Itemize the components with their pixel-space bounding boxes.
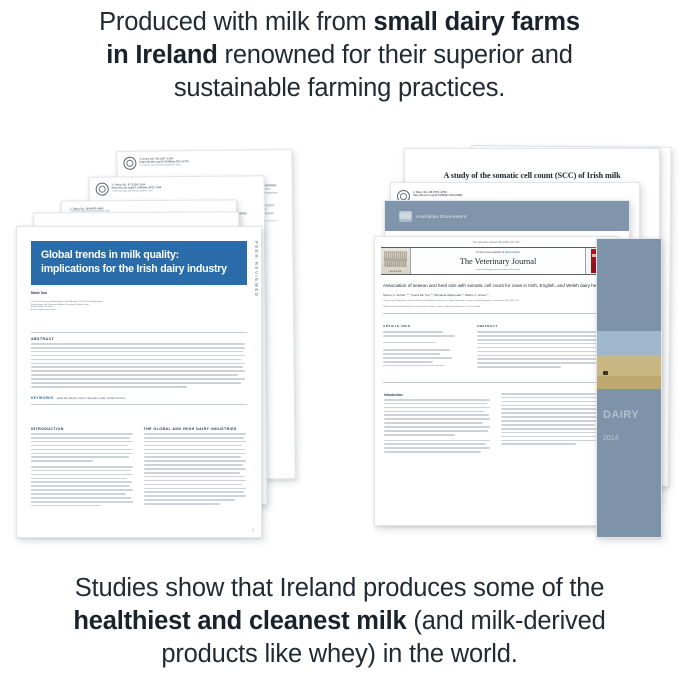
journal-homepage-note: journal homepage: www.elsevier.com/locat… bbox=[413, 269, 583, 271]
left-main-paper[interactable]: PEER REVIEWED Global trends in milk qual… bbox=[16, 226, 262, 538]
journal-seal-icon bbox=[96, 183, 109, 196]
article-info-column: ARTICLE INFO bbox=[383, 324, 469, 370]
keywords-value: global dairy industry, Ireland, milk qua… bbox=[57, 398, 125, 400]
divider bbox=[31, 404, 247, 405]
citation-row: J. Dairy Sci. 97:3136−3144 http://dx.doi… bbox=[90, 176, 264, 196]
aus-gov-label: Australian Government bbox=[416, 214, 466, 219]
headline-bottom-line2-plain: (and milk-derived bbox=[407, 607, 606, 635]
headline-bottom-line3: products like whey) in the world. bbox=[161, 640, 517, 668]
peer-reviewed-label: PEER REVIEWED bbox=[254, 241, 259, 298]
infographic-page: Produced with milk from small dairy farm… bbox=[0, 0, 679, 681]
column-body-right bbox=[501, 393, 609, 455]
paper-title: Global trends in milk quality: implicati… bbox=[31, 241, 247, 285]
photo-report-number: 2014 bbox=[603, 435, 619, 442]
citation-text: J. Dairy Sci. 98:3776−3790 http://dx.doi… bbox=[413, 190, 462, 198]
journal-masthead: ELSEVIER Contents lists available at Sci… bbox=[381, 247, 611, 275]
headline-top-line2-bold: in Ireland bbox=[106, 41, 217, 69]
headline-bottom-line2-bold: healthiest and cleanest milk bbox=[73, 607, 406, 635]
headline-top-line3: sustainable farming practices. bbox=[174, 74, 505, 102]
introduction-heading: Introduction bbox=[384, 393, 492, 397]
right-sheet-photo-report: DAIRY 2014 bbox=[596, 238, 662, 538]
abstract-label: ABSTRACT bbox=[477, 324, 609, 328]
journal-name: The Veterinary Journal bbox=[413, 257, 583, 266]
article-affiliation-2: ᵇ Animal and Grassland Research and Inno… bbox=[375, 303, 617, 309]
headline-top: Produced with milk from small dairy farm… bbox=[0, 6, 679, 105]
journal-header-note: The Veterinary Journal 199 (2014) 129−13… bbox=[375, 237, 617, 247]
citation-line-3: © American Dairy Science Association®, 2… bbox=[139, 164, 188, 167]
citation-line-2: http://dx.doi.org/10.3168/jds.2014-8991 bbox=[413, 194, 462, 197]
photo-report-word: DAIRY bbox=[603, 409, 639, 421]
citation-row: J. Dairy Sci. 98:1327−1346 http://dx.doi… bbox=[117, 150, 291, 170]
divider bbox=[31, 332, 247, 333]
contents-note-text: Contents lists available at bbox=[476, 251, 504, 254]
article-info-label: ARTICLE INFO bbox=[383, 324, 469, 328]
column-global-irish-dairy: THE GLOBAL AND IRISH DAIRY INDUSTRIES bbox=[144, 427, 248, 509]
keywords-row: KEYWORDS global dairy industry, Ireland,… bbox=[31, 396, 247, 400]
abstract-block: ABSTRACT KEYWORDS global dairy industry,… bbox=[17, 312, 261, 405]
paper-author-block: Marie Sou Centre for Veterinary Epidemio… bbox=[17, 285, 261, 312]
page-number: 1 bbox=[252, 528, 254, 532]
divider bbox=[383, 313, 609, 314]
keywords-label: KEYWORDS bbox=[31, 396, 54, 400]
article-body-columns: Introduction bbox=[375, 387, 617, 455]
introduction-heading: INTRODUCTION bbox=[31, 427, 135, 431]
sciencedirect-link[interactable]: ScienceDirect bbox=[505, 251, 520, 254]
article-title: Association of season and herd size with… bbox=[375, 275, 617, 289]
citation-text: J. Dairy Sci. 97:3136−3144 http://dx.doi… bbox=[112, 182, 162, 193]
paper-two-columns: INTRODUCTION THE GLOBAL AND IRISH DAIRY … bbox=[17, 409, 261, 509]
column-introduction: INTRODUCTION bbox=[31, 427, 135, 509]
column-introduction: Introduction bbox=[384, 393, 492, 455]
scc-paper-title: A study of the somatic cell count (SCC) … bbox=[405, 149, 659, 180]
article-authors: Simon C. Archer ᵃ,*, Fiona Mc Coy ᵇ, Wen… bbox=[375, 289, 617, 297]
journal-masthead-center: Contents lists available at ScienceDirec… bbox=[411, 248, 585, 274]
abstract-body bbox=[31, 343, 247, 387]
paper-header: Global trends in milk quality: implicati… bbox=[17, 227, 261, 285]
right-main-paper[interactable]: The Veterinary Journal 199 (2014) 129−13… bbox=[374, 236, 618, 526]
contents-available-note: Contents lists available at ScienceDirec… bbox=[413, 251, 583, 254]
headline-top-line1-plain: Produced with milk from bbox=[99, 8, 373, 36]
article-info-abstract-grid: ARTICLE INFO ABSTRACT bbox=[375, 318, 617, 370]
headline-bottom-line1: Studies show that Ireland produces some … bbox=[75, 574, 604, 602]
citation-line-3: © American Dairy Science Association®, 2… bbox=[112, 190, 161, 193]
journal-logo-icon: ELSEVIER bbox=[381, 248, 411, 274]
headline-top-line1-bold: small dairy farms bbox=[373, 8, 579, 36]
abstract-column: ABSTRACT bbox=[477, 324, 609, 370]
headline-bottom: Studies show that Ireland produces some … bbox=[0, 572, 679, 671]
landscape-photo bbox=[597, 331, 661, 389]
aus-gov-band: Australian Government bbox=[385, 201, 629, 231]
global-dairy-heading: THE GLOBAL AND IRISH DAIRY INDUSTRIES bbox=[144, 427, 248, 431]
journal-logo-caption: ELSEVIER bbox=[381, 271, 410, 273]
divider bbox=[383, 382, 609, 383]
abstract-label: ABSTRACT bbox=[31, 337, 247, 341]
citation-text: J. Dairy Sci. 98:1327−1346 http://dx.doi… bbox=[139, 156, 188, 167]
journal-seal-icon bbox=[123, 157, 136, 170]
coat-of-arms-icon bbox=[399, 211, 412, 222]
headline-top-line2-plain: renowned for their superior and bbox=[218, 41, 573, 69]
